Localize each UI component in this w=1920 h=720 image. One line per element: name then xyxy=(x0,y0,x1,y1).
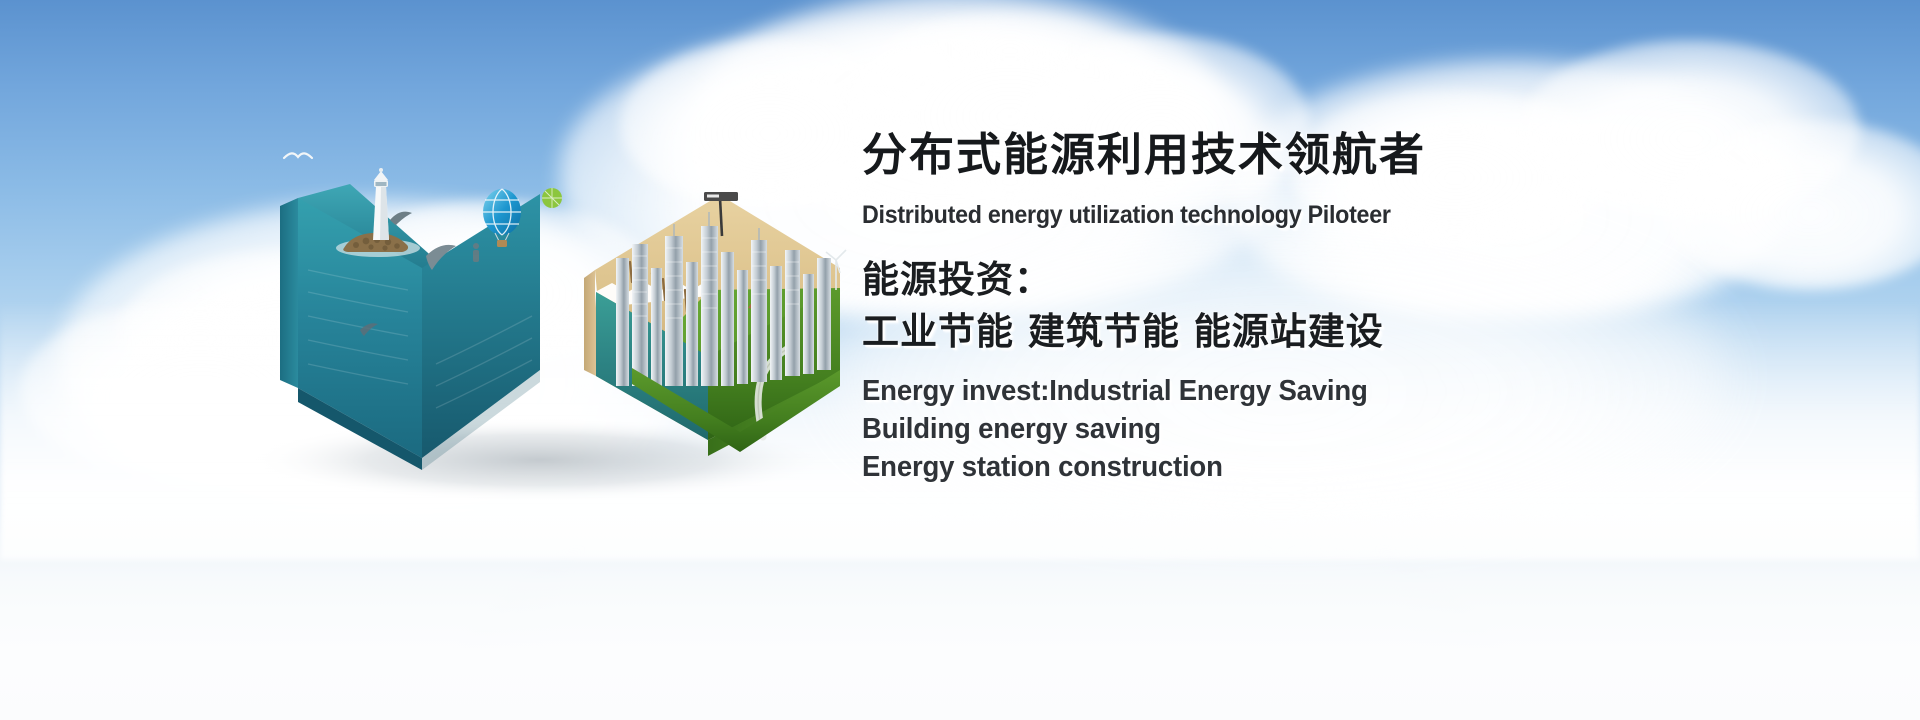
seagull-icon xyxy=(284,153,312,158)
green-ornament-icon xyxy=(542,188,562,208)
spacer-1 xyxy=(862,184,1862,198)
spacer-2 xyxy=(862,232,1862,254)
headline-chinese: 分布式能源利用技术领航者 xyxy=(862,126,1862,184)
bottom-white-fade xyxy=(0,510,1920,720)
sand-side-face xyxy=(584,270,596,376)
lighthouse-icon xyxy=(373,168,389,240)
services-english-line-1: Energy invest:Industrial Energy Saving xyxy=(862,372,1812,410)
services-english-line-2: Building energy saving xyxy=(862,410,1812,448)
figure-icon xyxy=(473,243,479,262)
services-english-line-3: Energy station construction xyxy=(862,448,1812,486)
section-label-chinese: 能源投资： xyxy=(862,254,1862,306)
hero-artwork-w xyxy=(240,140,860,490)
banner-copy: 分布式能源利用技术领航者 Distributed energy utilizat… xyxy=(862,126,1862,486)
headline-english: Distributed energy utilization technolog… xyxy=(862,198,1792,232)
seagull-icon-2 xyxy=(390,212,412,225)
ocean-side-face xyxy=(280,198,298,388)
services-chinese: 工业节能 建筑节能 能源站建设 xyxy=(862,306,1862,358)
hero-banner: 分布式能源利用技术领航者 Distributed energy utilizat… xyxy=(0,0,1920,720)
spacer-3 xyxy=(862,358,1862,372)
